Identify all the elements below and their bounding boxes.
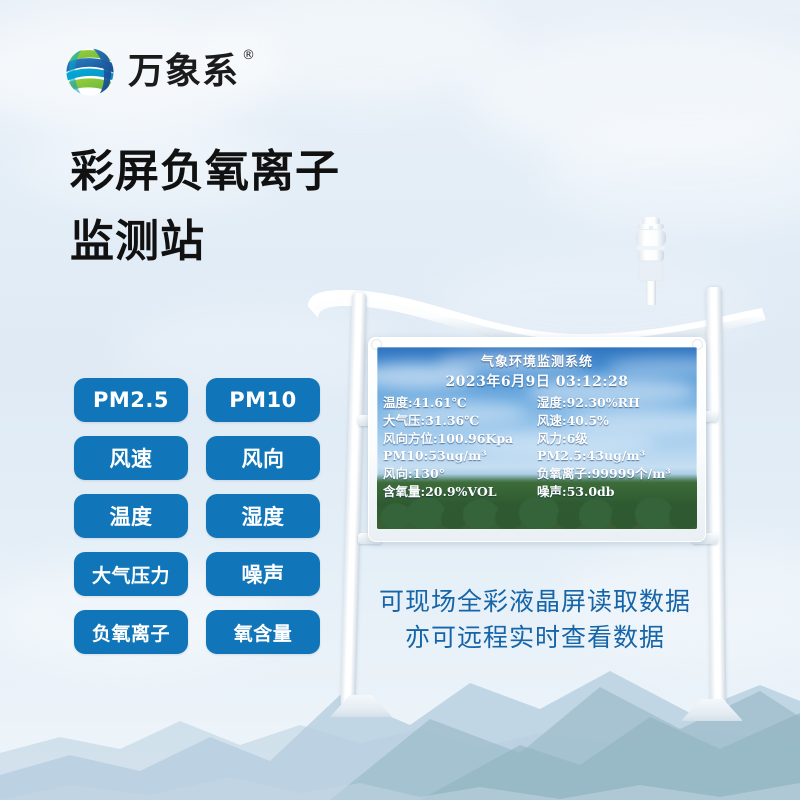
pole-base-left — [330, 695, 392, 717]
reading-noise: 噪声:53.0db — [537, 483, 691, 501]
pole-base-right — [681, 699, 743, 721]
reading-pm25: PM2.5:43ug/m³ — [537, 447, 691, 465]
tag-pm25[interactable]: PM2.5 — [74, 378, 188, 422]
display-panel[interactable]: 气象环境监测系统 2023年6月9日 03:12:28 温度:41.61℃ 湿度… — [368, 337, 706, 542]
lcd-screen[interactable]: 气象环境监测系统 2023年6月9日 03:12:28 温度:41.61℃ 湿度… — [377, 347, 697, 529]
reading-wind-force: 风力:6级 — [537, 430, 691, 448]
screen-datetime: 2023年6月9日 03:12:28 — [377, 371, 697, 391]
reading-temperature: 温度:41.61℃ — [383, 394, 537, 412]
reading-humidity: 湿度:92.30%RH — [537, 394, 691, 412]
poster-canvas: 万象系 ® 彩屏负氧离子 监测站 PM2.5 PM10 风速 风向 温度 湿度 … — [0, 0, 800, 800]
cloud-decoration — [470, 30, 800, 160]
caption-line-2: 亦可远程实时查看数据 — [360, 620, 710, 656]
reading-row: PM10:53ug/m³ PM2.5:43ug/m³ — [383, 447, 691, 465]
brand-name-wrapper: 万象系 ® — [128, 54, 239, 90]
screen-reading-list: 温度:41.61℃ 湿度:92.30%RH 大气压:31.36℃ 风速:40.5… — [377, 394, 697, 501]
tag-temperature[interactable]: 温度 — [74, 494, 188, 538]
feature-tag-grid: PM2.5 PM10 风速 风向 温度 湿度 大气压力 噪声 负氧离子 氧含量 — [74, 378, 320, 654]
screen-readout: 气象环境监测系统 2023年6月9日 03:12:28 温度:41.61℃ 湿度… — [377, 347, 697, 529]
tag-wind-speed[interactable]: 风速 — [74, 436, 188, 480]
caption-line-1: 可现场全彩液晶屏读取数据 — [360, 584, 710, 620]
screen-title: 气象环境监测系统 — [377, 351, 697, 370]
reading-wind-direction: 风向:130° — [383, 465, 537, 483]
reading-row: 含氧量:20.9%VOL 噪声:53.0db — [383, 483, 691, 501]
reading-row: 温度:41.61℃ 湿度:92.30%RH — [383, 394, 691, 412]
reading-negative-oxygen-ion: 负氧离子:99999个/m³ — [537, 465, 691, 483]
reading-oxygen-content: 含氧量:20.9%VOL — [383, 483, 537, 501]
bottom-caption: 可现场全彩液晶屏读取数据 亦可远程实时查看数据 — [360, 584, 710, 657]
brand-logo: 万象系 ® — [62, 44, 239, 100]
reading-row: 风向方位:100.96Kpa 风力:6级 — [383, 430, 691, 448]
tag-air-pressure[interactable]: 大气压力 — [74, 552, 188, 596]
globe-swirl-icon — [62, 44, 118, 100]
brand-name: 万象系 — [128, 51, 239, 92]
reading-row: 大气压:31.36℃ 风速:40.5% — [383, 412, 691, 430]
reading-wind-bearing: 风向方位:100.96Kpa — [383, 430, 537, 448]
registered-mark: ® — [242, 49, 256, 62]
reading-row: 风向:130° 负氧离子:99999个/m³ — [383, 465, 691, 483]
cloud-decoration — [540, 120, 800, 230]
headline-line-1: 彩屏负氧离子 — [70, 150, 490, 194]
reading-pressure: 大气压:31.36℃ — [383, 412, 537, 430]
reading-pm10: PM10:53ug/m³ — [383, 447, 537, 465]
tag-negative-oxygen-ion[interactable]: 负氧离子 — [74, 610, 188, 654]
reading-wind-speed: 风速:40.5% — [537, 412, 691, 430]
